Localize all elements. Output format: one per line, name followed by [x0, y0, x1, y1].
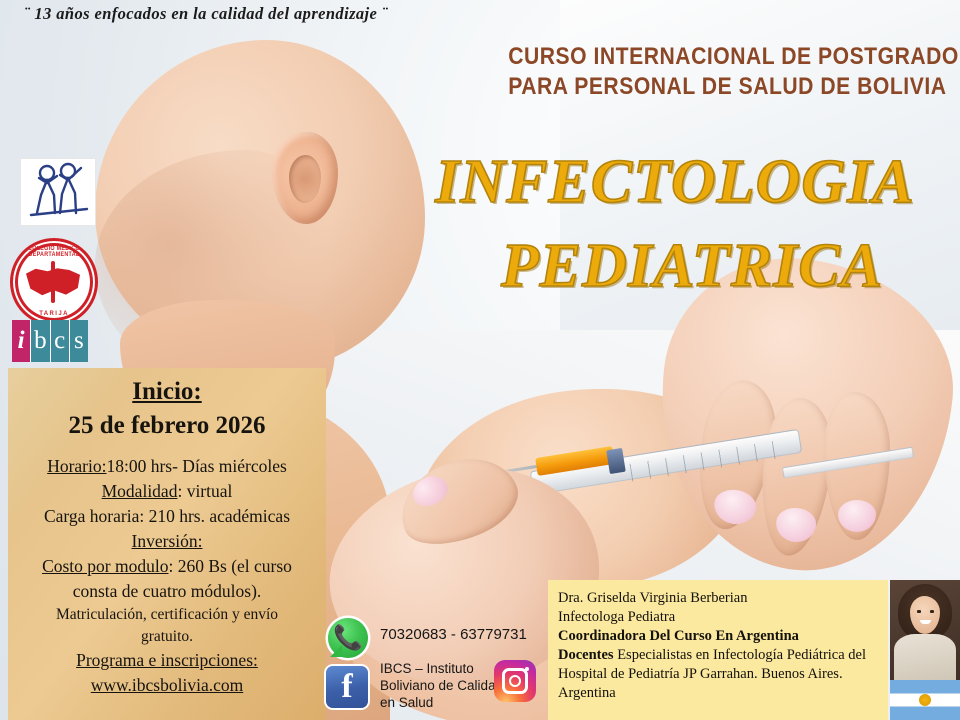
facebook-icon[interactable]: f	[326, 666, 368, 708]
phone-numbers: 70320683 - 63779731	[380, 626, 527, 643]
matricula-line2: gratuito.	[18, 626, 316, 648]
speaker-docentes: Docentes Especialistas en Infectología P…	[558, 646, 878, 665]
argentina-flag	[890, 680, 960, 720]
speaker-coordinator: Coordinadora Del Curso En Argentina	[558, 627, 878, 646]
speaker-hospital: Hospital de Pediatría JP Garrahan. Bueno…	[558, 665, 878, 684]
seal-bottom-text: TARIJA	[13, 311, 95, 317]
portrait-body	[894, 634, 956, 680]
start-date: 25 de febrero 2026	[18, 412, 316, 440]
modalidad-value: : virtual	[177, 481, 232, 501]
flag-sun-icon	[919, 694, 931, 706]
horario-line: Horario:18:00 hrs- Días miércoles	[18, 454, 316, 479]
instagram-flash-dot	[525, 667, 529, 671]
poster: ¨ 13 años enfocados en la calidad del ap…	[0, 0, 960, 720]
modalidad-line: Modalidad: virtual	[18, 479, 316, 504]
seal-top-text: COLEGIO MEDICO DEPARTAMENTAL	[17, 246, 91, 258]
course-header: CURSO INTERNACIONAL DE POSTGRADO PARA PE…	[508, 42, 922, 102]
costo-label: Costo por modulo	[42, 556, 168, 576]
title-line1: INFECTOLOGIA	[390, 140, 960, 224]
speaker-info-box: Dra. Griselda Virginia Berberian Infecto…	[548, 580, 888, 720]
page-title: INFECTOLOGIA PEDIATRICA	[390, 140, 960, 308]
course-header-line2: PARA PERSONAL DE SALUD DE BOLIVIA	[508, 72, 922, 102]
instagram-lens	[509, 675, 521, 687]
docentes-bold: Docentes	[558, 647, 614, 663]
tagline: ¨ 13 años enfocados en la calidad del ap…	[24, 4, 388, 24]
carga-horaria: Carga horaria: 210 hrs. académicas	[18, 504, 316, 529]
whatsapp-phone-glyph: 📞	[333, 626, 363, 650]
portrait-eye-left	[917, 610, 921, 613]
ibcs-logo: i b c s	[12, 320, 88, 362]
speaker-country: Argentina	[558, 684, 878, 703]
ibcs-letter-b: b	[31, 320, 50, 362]
costo-value: : 260 Bs (el curso	[168, 556, 291, 576]
colegio-medico-seal-logo: COLEGIO MEDICO DEPARTAMENTAL TARIJA	[10, 238, 98, 326]
speaker-name: Dra. Griselda Virginia Berberian	[558, 589, 878, 608]
docentes-rest: Especialistas en Infectología Pediátrica…	[614, 647, 866, 663]
ibcs-letter-i: i	[12, 320, 31, 362]
course-header-line1: CURSO INTERNACIONAL DE POSTGRADO	[508, 42, 922, 72]
facebook-line1: IBCS – Instituto	[380, 660, 503, 677]
seal-text: COLEGIO MEDICO DEPARTAMENTAL TARIJA	[13, 241, 95, 323]
course-details: Horario:18:00 hrs- Días miércoles Modali…	[18, 454, 316, 698]
inversion-label: Inversión:	[18, 529, 316, 554]
inicio-label: Inicio:	[18, 378, 316, 406]
costo-line: Costo por modulo: 260 Bs (el curso	[18, 554, 316, 579]
figures-logo	[20, 158, 96, 226]
facebook-line3: en Salud	[380, 694, 503, 711]
facebook-line2: Boliviano de Calidad	[380, 677, 503, 694]
facebook-page-name: IBCS – Instituto Boliviano de Calidad en…	[380, 660, 503, 711]
instagram-icon[interactable]	[494, 660, 536, 702]
course-info-panel: Inicio: 25 de febrero 2026 Horario:18:00…	[8, 368, 326, 720]
title-line2: PEDIATRICA	[390, 224, 960, 308]
figures-logo-icon	[21, 159, 95, 225]
costo-line2: consta de cuatro módulos).	[18, 579, 316, 604]
horario-label: Horario:	[47, 456, 106, 476]
speaker-role: Infectologa Pediatra	[558, 608, 878, 627]
website-link[interactable]: www.ibcsbolivia.com	[18, 673, 316, 698]
matricula-line1: Matriculación, certificación y envío	[18, 604, 316, 626]
facebook-f-glyph: f	[341, 670, 352, 704]
programa-label: Programa e inscripciones:	[18, 648, 316, 673]
horario-value: 18:00 hrs- Días miércoles	[106, 456, 286, 476]
portrait-eye-right	[930, 610, 934, 613]
ibcs-letter-c: c	[51, 320, 70, 362]
speaker-portrait	[890, 580, 960, 680]
whatsapp-icon[interactable]: 📞	[328, 618, 368, 658]
ibcs-letter-s: s	[70, 320, 88, 362]
modalidad-label: Modalidad	[102, 481, 178, 501]
